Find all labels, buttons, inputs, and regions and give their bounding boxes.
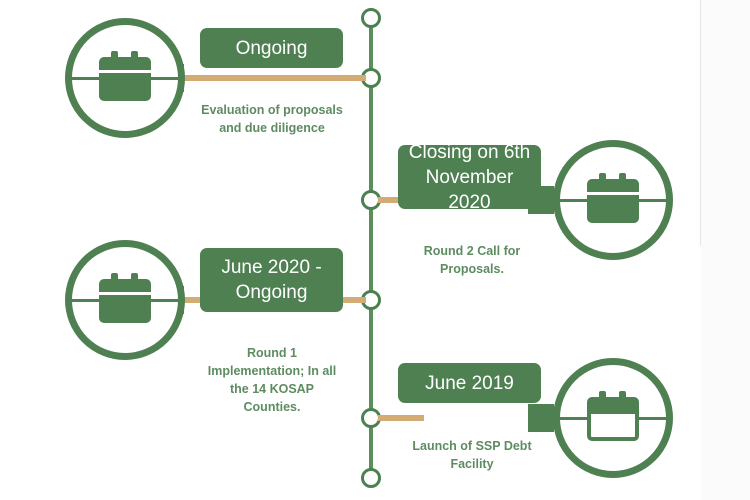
event-caption-line-2-0: Round 1: [188, 344, 356, 362]
calendar-body-icon: [587, 195, 639, 223]
calendar-header-icon: [587, 397, 639, 410]
event-caption-0: Evaluation of proposals and due diligenc…: [188, 101, 356, 137]
right-panel-divider: [700, 0, 701, 246]
event-caption-line-0-1: and due diligence: [188, 119, 356, 137]
right-panel-background: [701, 0, 750, 500]
event-label-text-2-line-0: June 2020 -: [221, 255, 321, 280]
calendar-icon: [99, 51, 151, 101]
connector-line-event-0: [180, 75, 366, 81]
event-caption-line-3-0: Launch of SSP Debt: [388, 437, 556, 455]
event-caption-line-2-3: Counties.: [188, 398, 356, 416]
calendar-body-icon: [99, 295, 151, 323]
event-label-box-2[interactable]: June 2020 - Ongoing: [200, 248, 343, 312]
event-caption-1: Round 2 Call for Proposals.: [388, 242, 556, 278]
timeline-infographic: Ongoing Evaluation of proposals and due …: [0, 0, 750, 500]
event-caption-3: Launch of SSP Debt Facility: [388, 437, 556, 473]
event-icon-circle-3[interactable]: [553, 358, 673, 478]
event-caption-line-1-0: Round 2 Call for: [388, 242, 556, 260]
event-label-text-0: Ongoing: [236, 36, 308, 61]
timeline-node-5: [361, 468, 381, 488]
connector-line-event-3: [378, 415, 424, 421]
event-icon-circle-1[interactable]: [553, 140, 673, 260]
event-caption-line-1-1: Proposals.: [388, 260, 556, 278]
event-label-box-1[interactable]: Closing on 6th November 2020: [398, 145, 541, 209]
calendar-header-icon: [587, 179, 639, 192]
calendar-icon: [587, 173, 639, 223]
calendar-header-icon: [99, 279, 151, 292]
event-caption-line-0-0: Evaluation of proposals: [188, 101, 356, 119]
event-icon-circle-2[interactable]: [65, 240, 185, 360]
event-icon-circle-0[interactable]: [65, 18, 185, 138]
timeline-node-0: [361, 8, 381, 28]
event-label-box-0[interactable]: Ongoing: [200, 28, 343, 68]
event-label-text-1-line-1: November 2020: [408, 165, 531, 215]
event-label-text-3: June 2019: [425, 371, 514, 396]
event-label-text-1-line-0: Closing on 6th: [409, 140, 530, 165]
event-caption-line-2-2: the 14 KOSAP: [188, 380, 356, 398]
event-caption-line-2-1: Implementation; In all: [188, 362, 356, 380]
calendar-header-icon: [99, 57, 151, 70]
event-caption-2: Round 1 Implementation; In all the 14 KO…: [188, 344, 356, 416]
event-label-box-3[interactable]: June 2019: [398, 363, 541, 403]
event-caption-line-3-1: Facility: [388, 455, 556, 473]
calendar-body-icon: [587, 410, 639, 441]
calendar-icon: [99, 273, 151, 323]
connector-stub-event-3: [528, 404, 554, 432]
event-label-text-2-line-1: Ongoing: [236, 280, 308, 305]
calendar-icon: [587, 391, 639, 441]
calendar-body-icon: [99, 73, 151, 101]
